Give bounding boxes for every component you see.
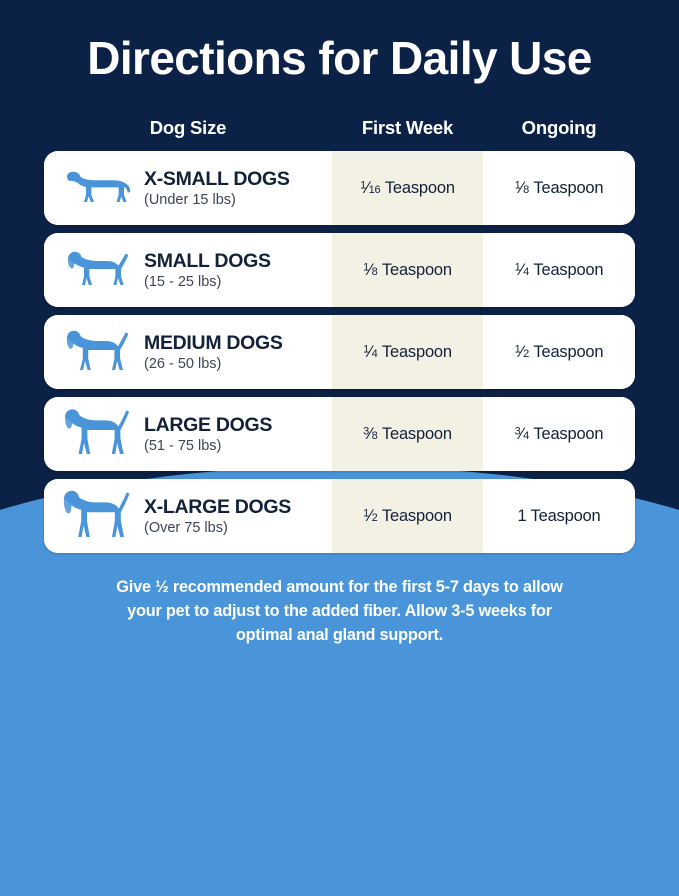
column-header-ongoing: Ongoing — [483, 115, 635, 141]
first-week-dose-cell: 3⁄8 Teaspoon — [332, 397, 483, 471]
ongoing-dose-cell: 1⁄8 Teaspoon — [483, 151, 635, 225]
column-header-dog-size: Dog Size — [44, 115, 332, 141]
dog-size-cell: LARGE DOGS(51 - 75 lbs) — [44, 397, 332, 471]
first-week-dose-cell: 1⁄8 Teaspoon — [332, 233, 483, 307]
first-week-dose-cell: 1⁄4 Teaspoon — [332, 315, 483, 389]
footnote-line-1: Give ½ recommended amount for the first … — [64, 575, 615, 599]
first-week-dose-value: 1⁄16 Teaspoon — [360, 179, 455, 198]
table-row: LARGE DOGS(51 - 75 lbs)3⁄8 Teaspoon3⁄4 T… — [44, 397, 635, 471]
table-row: X-SMALL DOGS(Under 15 lbs)1⁄16 Teaspoon1… — [44, 151, 635, 225]
table-row: X-LARGE DOGS(Over 75 lbs)1⁄2 Teaspoon1 T… — [44, 479, 635, 553]
dog-weight-range: (15 - 25 lbs) — [144, 273, 271, 291]
first-week-dose-value: 3⁄8 Teaspoon — [363, 425, 452, 444]
dog-size-name: LARGE DOGS — [144, 414, 272, 436]
footnote: Give ½ recommended amount for the first … — [64, 575, 615, 647]
dog-weight-range: (26 - 50 lbs) — [144, 355, 283, 373]
ongoing-dose-cell: 1 Teaspoon — [483, 479, 635, 553]
ongoing-dose-value: 1 Teaspoon — [517, 507, 600, 526]
dachshund-dog-icon — [60, 162, 134, 214]
ongoing-dose-value: 1⁄4 Teaspoon — [515, 261, 604, 280]
footnote-line-2: your pet to adjust to the added fiber. A… — [64, 599, 615, 623]
dog-size-cell: X-SMALL DOGS(Under 15 lbs) — [44, 151, 332, 225]
ongoing-dose-cell: 1⁄2 Teaspoon — [483, 315, 635, 389]
dog-weight-range: (Under 15 lbs) — [144, 191, 290, 209]
column-headers: Dog Size First Week Ongoing — [44, 115, 635, 141]
page-title: Directions for Daily Use — [0, 31, 679, 85]
dog-size-cell: MEDIUM DOGS(26 - 50 lbs) — [44, 315, 332, 389]
first-week-dose-value: 1⁄4 Teaspoon — [363, 343, 452, 362]
dog-size-cell: SMALL DOGS(15 - 25 lbs) — [44, 233, 332, 307]
dosage-table: X-SMALL DOGS(Under 15 lbs)1⁄16 Teaspoon1… — [44, 151, 635, 561]
ongoing-dose-value: 1⁄2 Teaspoon — [515, 343, 604, 362]
column-header-first-week: First Week — [332, 115, 483, 141]
pointer-dog-icon — [60, 408, 134, 460]
dog-size-name: X-LARGE DOGS — [144, 496, 291, 518]
dog-size-name: X-SMALL DOGS — [144, 168, 290, 190]
basset-hound-dog-icon — [60, 244, 134, 296]
first-week-dose-cell: 1⁄2 Teaspoon — [332, 479, 483, 553]
first-week-dose-value: 1⁄8 Teaspoon — [363, 261, 452, 280]
dog-size-text: X-LARGE DOGS(Over 75 lbs) — [134, 496, 291, 537]
dog-size-text: MEDIUM DOGS(26 - 50 lbs) — [134, 332, 283, 373]
ongoing-dose-cell: 1⁄4 Teaspoon — [483, 233, 635, 307]
table-row: SMALL DOGS(15 - 25 lbs)1⁄8 Teaspoon1⁄4 T… — [44, 233, 635, 307]
dog-size-text: X-SMALL DOGS(Under 15 lbs) — [134, 168, 290, 209]
dog-size-name: MEDIUM DOGS — [144, 332, 283, 354]
dog-size-name: SMALL DOGS — [144, 250, 271, 272]
bloodhound-dog-icon — [60, 490, 134, 542]
first-week-dose-cell: 1⁄16 Teaspoon — [332, 151, 483, 225]
dog-size-cell: X-LARGE DOGS(Over 75 lbs) — [44, 479, 332, 553]
ongoing-dose-value: 3⁄4 Teaspoon — [515, 425, 604, 444]
beagle-dog-icon — [60, 326, 134, 378]
ongoing-dose-value: 1⁄8 Teaspoon — [515, 179, 604, 198]
ongoing-dose-cell: 3⁄4 Teaspoon — [483, 397, 635, 471]
footnote-line-3: optimal anal gland support. — [64, 623, 615, 647]
dog-weight-range: (51 - 75 lbs) — [144, 437, 272, 455]
dog-size-text: SMALL DOGS(15 - 25 lbs) — [134, 250, 271, 291]
table-row: MEDIUM DOGS(26 - 50 lbs)1⁄4 Teaspoon1⁄2 … — [44, 315, 635, 389]
dog-weight-range: (Over 75 lbs) — [144, 519, 291, 537]
dog-size-text: LARGE DOGS(51 - 75 lbs) — [134, 414, 272, 455]
first-week-dose-value: 1⁄2 Teaspoon — [363, 507, 452, 526]
